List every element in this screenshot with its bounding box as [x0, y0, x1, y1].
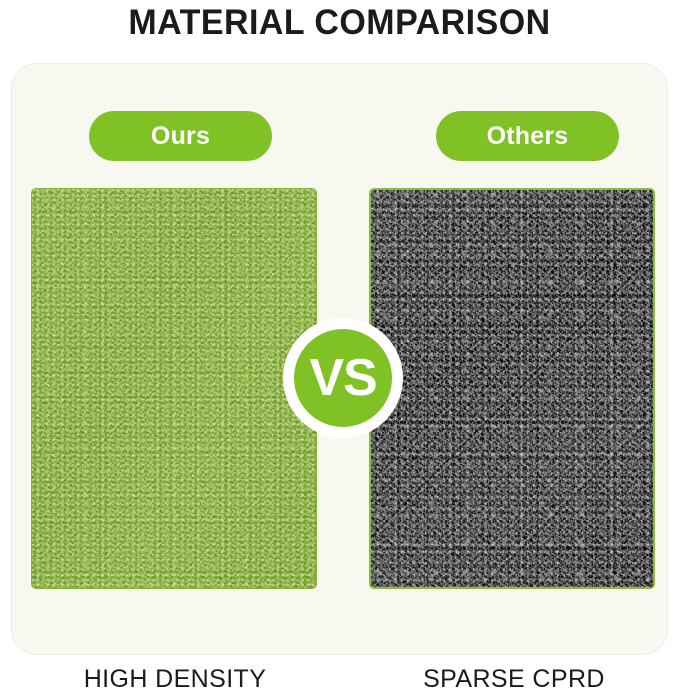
- dark-fiber-texture: [371, 190, 653, 587]
- vs-badge: VS: [283, 318, 403, 438]
- label-pill-ours: Ours: [89, 111, 272, 161]
- material-swatch-ours: [31, 188, 317, 589]
- label-pill-others: Others: [436, 111, 619, 161]
- page-title: MATERIAL COMPARISON: [10, 0, 669, 50]
- caption-ours: HIGH DENSITY: [31, 662, 319, 696]
- caption-others: SPARSE CPRD: [369, 662, 659, 696]
- material-swatch-others: [369, 188, 655, 589]
- green-fiber-texture: [32, 189, 316, 588]
